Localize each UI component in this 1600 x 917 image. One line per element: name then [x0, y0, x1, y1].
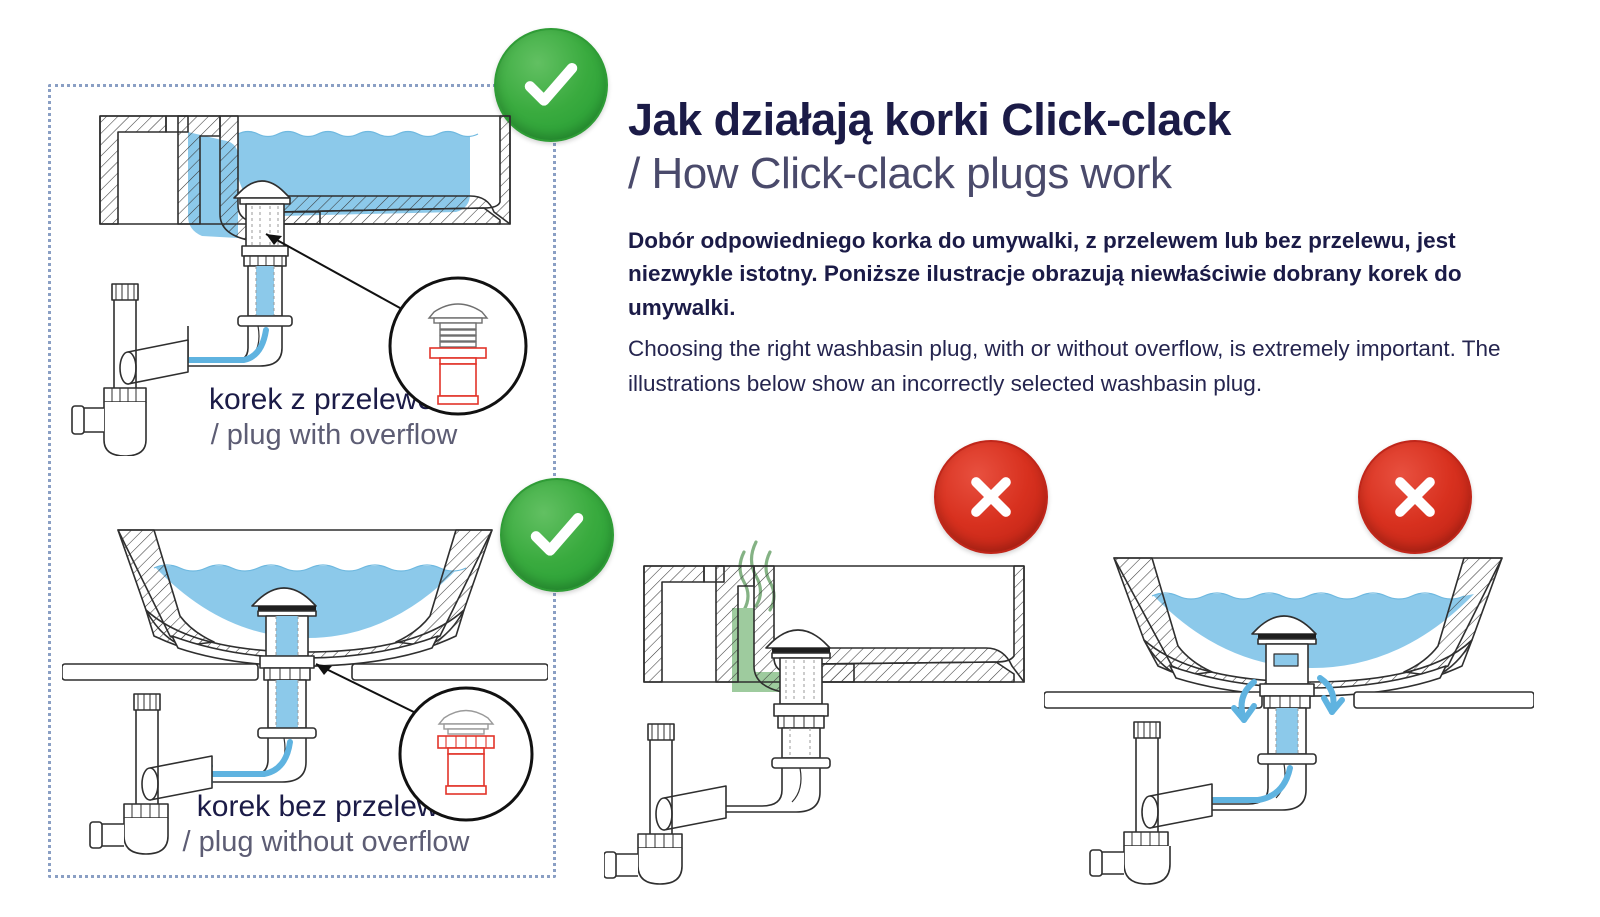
intro-paragraph-english: Choosing the right washbasin plug, with … — [628, 332, 1540, 402]
plug-detail-callout — [400, 688, 532, 820]
infographic-canvas: Jak działają korki Click-clack / How Cli… — [0, 0, 1600, 917]
illustration-bowl-without-overflow-wrong — [1044, 496, 1534, 896]
page-title: Jak działają korki Click-clack — [628, 96, 1548, 145]
illustration-basin-with-overflow-wrong — [604, 500, 1044, 890]
plug-detail-callout — [390, 278, 526, 414]
header-text-block: Jak działają korki Click-clack / How Cli… — [628, 96, 1548, 198]
illustration-basin-with-overflow-correct — [70, 96, 540, 456]
illustration-bowl-without-overflow-correct — [62, 486, 548, 856]
page-subtitle: / How Click-clack plugs work — [628, 149, 1548, 198]
intro-paragraph-polish: Dobór odpowiedniego korka do umywalki, z… — [628, 224, 1540, 324]
